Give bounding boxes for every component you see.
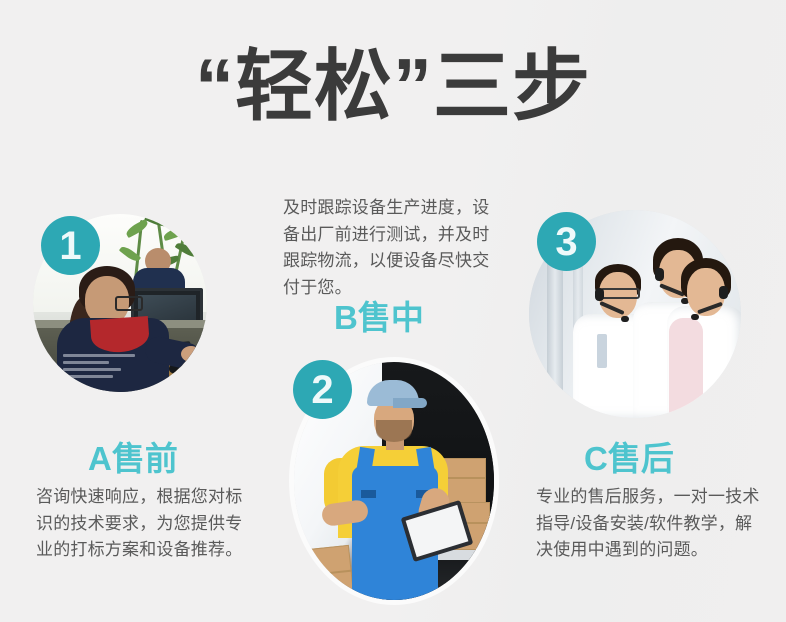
step-1-heading: A售前	[88, 439, 178, 479]
step-3-badge: 3	[537, 212, 596, 271]
step-2-body: 及时跟踪设备生产进度，设备出厂前进行测试，并及时跟踪物流，以便设备尽快交付于您。	[283, 195, 498, 301]
page-title: “轻松”三步	[0, 36, 786, 136]
step-1-body: 咨询快速响应，根据您对标识的技术要求，为您提供专业的打标方案和设备推荐。	[36, 484, 251, 564]
step-1-badge: 1	[41, 216, 100, 275]
infographic-stage: “轻松”三步	[0, 0, 786, 622]
step-2-badge: 2	[293, 360, 352, 419]
step-2-heading: B售中	[334, 298, 424, 338]
step-3-body: 专业的售后服务，一对一技术指导/设备安装/软件教学，解决使用中遇到的问题。	[536, 484, 762, 564]
step-3-heading: C售后	[584, 439, 674, 479]
